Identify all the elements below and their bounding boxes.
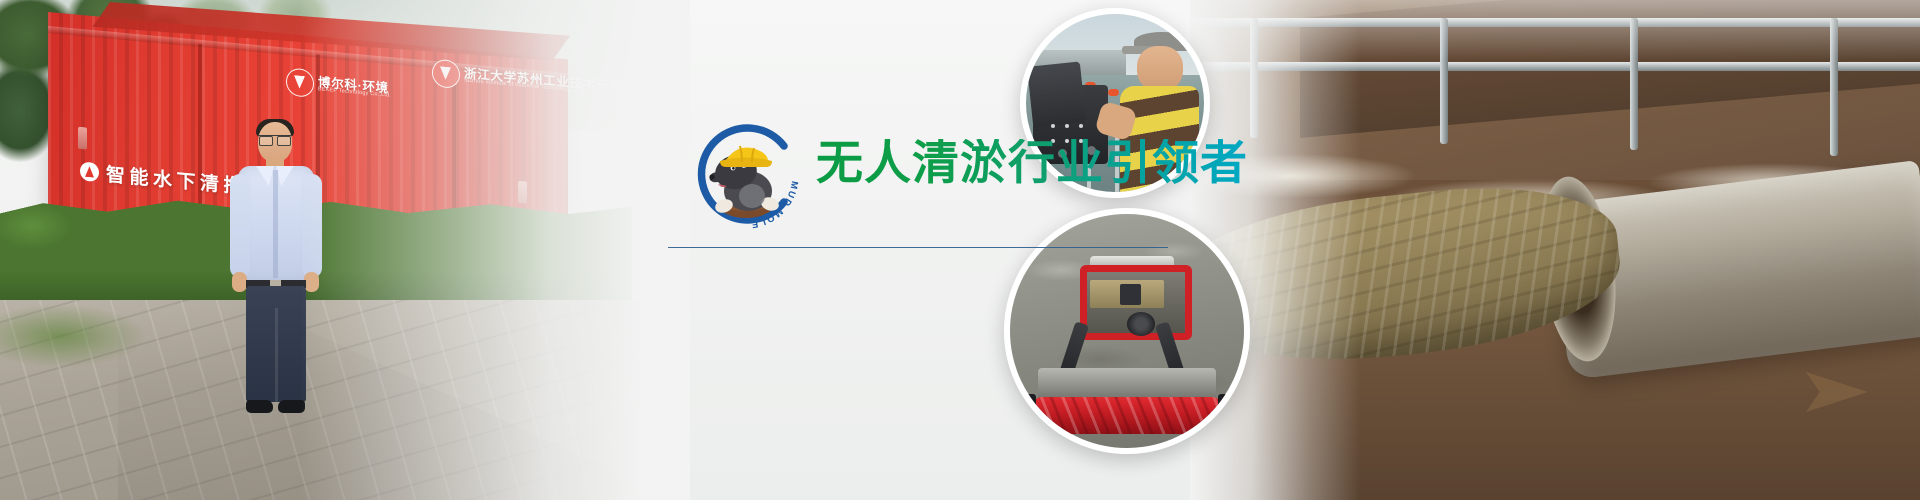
auger-end-right	[1218, 394, 1234, 436]
center-content: MUD MOLE 无人清淤行业引领者	[668, 0, 1208, 500]
headline-divider	[668, 247, 1168, 248]
hero-banner: 博尔科·环境 BEKEP Technology Co.,Ltd. 浙江大学苏州工…	[0, 0, 1920, 500]
left-photo: 博尔科·环境 BEKEP Technology Co.,Ltd. 浙江大学苏州工…	[0, 0, 690, 500]
left-photo-fade	[300, 0, 690, 500]
arm-left	[230, 174, 250, 278]
glasses-icon	[259, 135, 291, 144]
headline: 无人清淤行业引领者	[816, 130, 1248, 194]
mud-mole-logo: MUD MOLE	[688, 116, 804, 232]
container-latch	[78, 127, 87, 150]
right-photo	[1190, 0, 1920, 500]
slogan-badge-icon	[80, 161, 99, 182]
trouser-seam	[275, 308, 278, 402]
headline-text: 无人清淤行业引领者	[816, 139, 1248, 186]
shirt-placket	[273, 170, 278, 278]
shoe-left	[246, 400, 273, 413]
hand-left	[232, 272, 247, 292]
